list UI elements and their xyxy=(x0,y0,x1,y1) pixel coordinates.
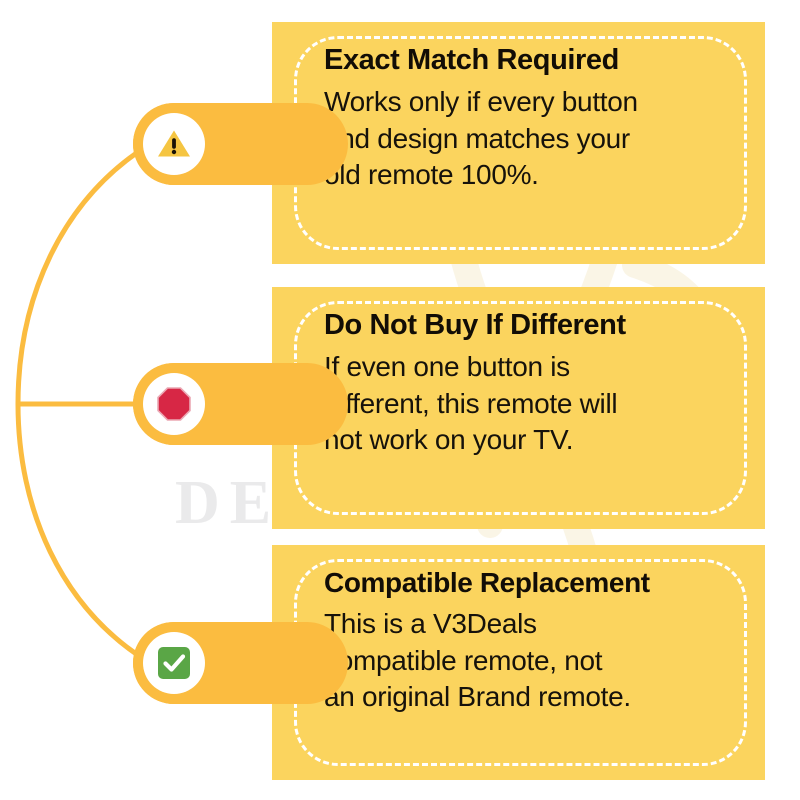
card-line-3: not work on your TV. xyxy=(324,424,573,455)
card-body-text: This is a V3Deals compatible remote, not… xyxy=(324,606,735,715)
green-check-icon xyxy=(156,645,192,681)
icon-badge-warning xyxy=(133,103,215,185)
card-line-2: compatible remote, not xyxy=(324,645,602,676)
card-body-text: Works only if every button and design ma… xyxy=(324,84,735,193)
infographic-canvas: DEALS Exact Match Required Works only if… xyxy=(0,0,800,800)
icon-badge-inner xyxy=(143,113,205,175)
stop-octagon-icon xyxy=(156,386,192,422)
card-line-1: If even one button is xyxy=(324,351,570,382)
card-line-1: This is a V3Deals xyxy=(324,608,537,639)
card-line-3: old remote 100%. xyxy=(324,159,539,190)
card-title: Compatible Replacement xyxy=(324,567,735,598)
icon-badge-inner xyxy=(143,632,205,694)
card-line-3: an original Brand remote. xyxy=(324,681,631,712)
icon-badge-stop xyxy=(133,363,215,445)
icon-badge-inner xyxy=(143,373,205,435)
card-line-2: different, this remote will xyxy=(324,388,617,419)
card-title: Do Not Buy If Different xyxy=(324,309,735,341)
warning-triangle-icon xyxy=(155,125,193,163)
card-content: Exact Match Required Works only if every… xyxy=(272,22,765,216)
card-body-text: If even one button is different, this re… xyxy=(324,349,735,458)
card-content: Compatible Replacement This is a V3Deals… xyxy=(272,545,765,738)
icon-badge-check xyxy=(133,622,215,704)
card-content: Do Not Buy If Different If even one butt… xyxy=(272,287,765,481)
card-line-2: and design matches your xyxy=(324,123,630,154)
card-title: Exact Match Required xyxy=(324,44,735,76)
card-line-1: Works only if every button xyxy=(324,86,638,117)
